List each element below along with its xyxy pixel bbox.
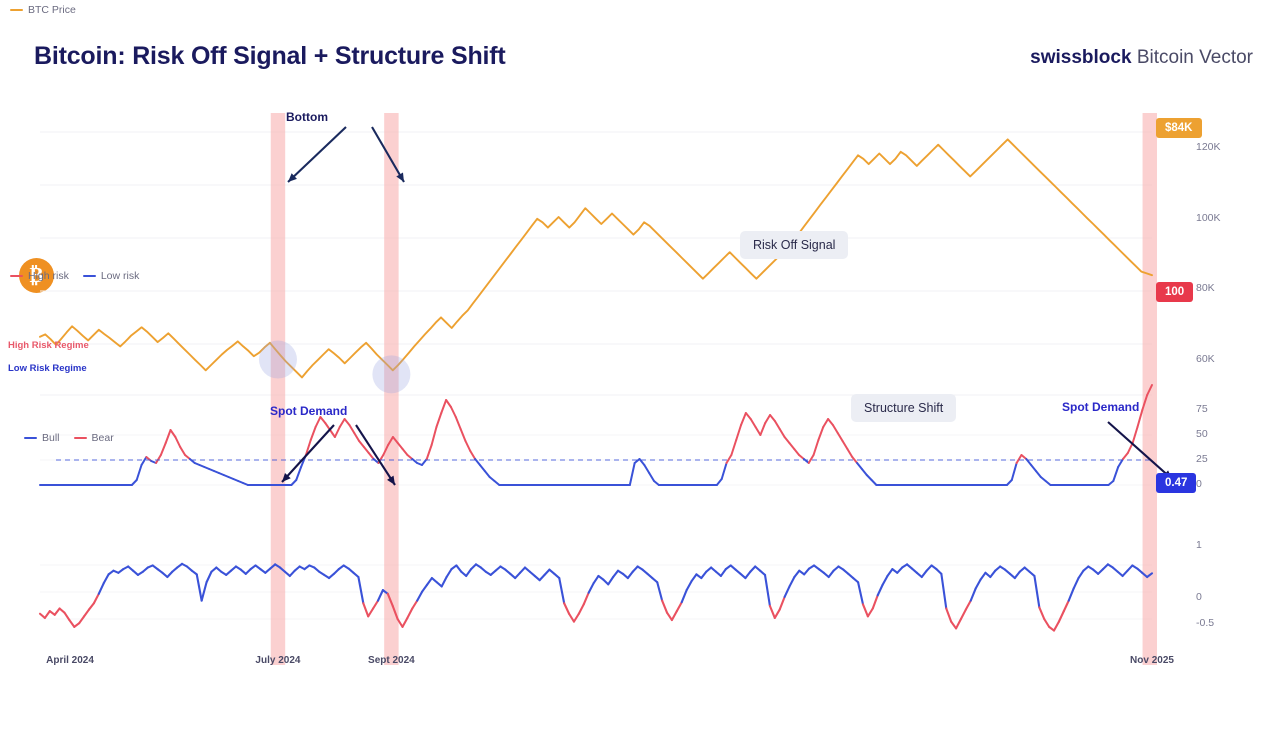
bottom-arrow-left [288,127,346,182]
risk-signal-segment [432,427,437,445]
structure-trend-segment [628,572,633,578]
structure-trend-segment [1064,601,1069,612]
structure-trend-segment [515,573,520,578]
legend-swatch-icon [24,437,37,439]
structure-trend-segment [887,569,892,576]
structure-trend-segment [1123,571,1128,576]
legend-item: Bear [74,432,114,444]
risk-signal-segment [765,415,770,423]
structure-trend-segment [84,610,89,617]
structure-trend-segment [657,582,662,600]
risk-signal-segment [330,430,335,437]
structure-trend-segment [873,595,878,608]
risk-signal-segment [359,441,364,447]
risk-signal-segment [727,455,732,463]
highlight-band [271,113,285,665]
structure-trend-segment [1079,571,1084,578]
y-tick-risk: 0 [1196,478,1202,490]
risk-signal-segment [838,433,843,441]
risk-signal-segment [427,445,432,459]
structure-trend-segment [447,569,452,577]
y-tick-structure: 1 [1196,539,1202,551]
structure-trend-segment [951,622,956,629]
structure-trend-segment [520,568,525,573]
structure-trend-segment [45,611,50,618]
legend-swatch-icon [10,9,23,11]
risk-signal-segment [456,417,461,429]
risk-signal-segment [340,419,345,427]
structure-trend-segment [1128,565,1133,570]
structure-trend-segment [104,574,109,583]
structure-trend-segment [692,574,697,581]
structure-trend-segment [1039,607,1044,619]
structure-trend-segment [545,570,550,575]
structure-trend-segment [427,578,432,585]
structure-trend-segment [1074,578,1079,589]
risk-signal-segment [1012,463,1017,480]
risk-signal-segment [161,443,166,455]
risk-signal-segment [756,427,761,435]
risk-signal-segment [785,437,790,443]
spot-demand-left-annotation: Spot Demand [270,404,347,418]
structure-trend-segment [167,572,172,577]
structure-trend-segment [564,603,569,614]
risk-signal-segment [731,440,736,455]
structure-trend-segment [946,609,951,622]
x-tick-label: Nov 2025 [1130,655,1174,666]
structure-trend-segment [1015,572,1020,578]
risk-signal-segment [1113,467,1118,481]
risk-off-signal-annotation: Risk Off Signal [740,231,848,259]
chart-canvas [34,95,1186,675]
structure-trend-segment [927,565,932,570]
risk-signal-segment [1031,465,1036,471]
structure-trend-segment [613,571,618,577]
legend-label: Low risk [101,270,140,282]
structure-trend-segment [662,601,667,613]
structure-trend-segment [197,574,202,600]
structure-trend-segment [202,582,207,600]
structure-trend-segment [69,620,74,627]
y-tick-risk: 75 [1196,403,1208,415]
risk-signal-segment [354,433,359,441]
legend-label: Bear [92,432,114,444]
structure-trend-segment [701,572,706,578]
structure-trend-segment [540,575,545,580]
structure-trend-segment [456,565,461,571]
risk-signal-segment [746,413,751,419]
btc-price-line [40,139,1152,377]
structure-trend-segment [981,573,986,580]
price-value-badge: $84K [1156,118,1202,138]
risk-signal-segment [296,467,301,480]
structure-trend-segment [1059,611,1064,622]
structure-trend-segment [407,609,412,618]
structure-trend-segment [608,577,613,584]
legend-item: BTC Price [10,4,76,16]
risk-signal-segment [649,473,654,481]
risk-signal-segment [345,419,350,425]
structure-trend-segment [207,572,212,583]
brand-name: swissblock [1030,47,1131,68]
legend-trend: BullBear [24,432,114,444]
risk-signal-segment [364,447,369,453]
risk-signal-segment [814,440,819,455]
structure-trend-segment [79,616,84,623]
risk-signal-segment [1036,471,1041,477]
structure-trend-segment [677,602,682,611]
structure-trend-segment [780,597,785,610]
risk-signal-segment [722,463,727,479]
high-risk-regime-label: High Risk Regime [8,340,89,351]
risk-signal-segment [1007,480,1012,485]
risk-signal-segment [760,423,765,435]
structure-trend-segment [633,567,638,572]
risk-signal-segment [470,451,475,459]
structure-trend-segment [961,610,966,619]
risk-signal-segment [751,419,756,427]
structure-trend-segment [976,580,981,589]
risk-signal-segment [780,429,785,437]
bottom-highlight-circle [372,355,410,393]
structure-trend-segment [863,604,868,616]
risk-signal-segment [741,413,746,425]
risk-signal-segment [311,427,316,440]
risk-signal-segment [369,453,374,459]
structure-trend-segment [956,619,961,628]
x-tick-label: April 2024 [46,655,94,666]
risk-signal-segment [349,425,354,433]
structure-trend-segment [589,583,594,592]
risk-signal-segment [403,449,408,455]
structure-trend-segment [990,571,995,577]
structure-trend-segment [721,569,726,576]
trend-value-badge: 0.47 [1156,473,1196,493]
structure-trend-segment [594,576,599,583]
structure-trend-segment [368,609,373,617]
x-tick-label: Sept 2024 [368,655,415,666]
risk-signal-segment [775,421,780,429]
legend-item: Low risk [83,270,140,282]
risk-signal-segment [828,419,833,425]
risk-signal-segment [833,425,838,433]
risk-signal-segment [291,480,296,485]
bottom-highlight-circle [259,341,297,379]
spot-demand-arrow-left [282,425,334,482]
risk-signal-segment [436,413,441,427]
structure-trend-segment [883,576,888,585]
y-tick-price: 60K [1196,353,1215,365]
y-tick-risk: 50 [1196,428,1208,440]
structure-trend-segment [878,585,883,596]
page-title: Bitcoin: Risk Off Signal + Structure Shi… [34,42,506,71]
structure-trend-segment [422,585,427,592]
structure-trend-segment [922,571,927,577]
structure-trend-segment [775,610,780,618]
structure-trend-segment [966,601,971,610]
structure-trend-segment [417,592,422,601]
structure-trend-segment [897,568,902,573]
structure-shift-annotation: Structure Shift [851,394,956,422]
legend-item: High risk [10,270,69,282]
x-tick-label: July 2024 [255,655,300,666]
risk-signal-segment [166,430,171,443]
structure-trend-segment [765,575,770,606]
legend-swatch-icon [10,275,23,277]
risk-signal-segment [630,463,635,485]
structure-trend-segment [1044,619,1049,627]
bottom-annotation: Bottom [286,110,328,124]
risk-signal-segment [789,443,794,449]
structure-trend-segment [687,581,692,590]
risk-signal-segment [818,427,823,440]
structure-trend-segment [412,601,417,609]
structure-trend-segment [574,614,579,622]
y-tick-price: 120K [1196,141,1221,153]
y-tick-price: 100K [1196,212,1221,224]
risk-signal-segment [480,465,485,471]
structure-trend-segment [584,593,589,605]
risk-signal-segment [809,455,814,463]
low-risk-regime-label: Low Risk Regime [8,363,87,374]
structure-trend-segment [804,569,809,575]
structure-trend-segment [829,571,834,577]
y-tick-structure: 0 [1196,591,1202,603]
legend-item: Bull [24,432,60,444]
structure-trend-segment [858,582,863,604]
risk-signal-segment [180,447,185,455]
risk-signal-segment [862,469,867,475]
structure-trend-segment [569,614,574,622]
structure-trend-segment [868,609,873,617]
risk-signal-segment [171,430,176,437]
risk-signal-segment [175,437,180,447]
risk-signal-segment [137,465,142,480]
structure-trend-segment [770,606,775,618]
structure-trend-segment [559,578,564,603]
structure-trend-segment [466,569,471,576]
brand-product: Bitcoin Vector [1132,47,1253,68]
structure-trend-segment [789,577,794,586]
structure-trend-segment [750,567,755,572]
y-tick-risk: 25 [1196,453,1208,465]
structure-trend-segment [89,603,94,609]
structure-trend-segment [373,601,378,609]
risk-signal-segment [1123,453,1128,459]
risk-signal-segment [132,480,137,485]
risk-signal-segment [872,480,877,485]
structure-trend-segment [358,577,363,603]
risk-signal-segment [446,400,451,407]
structure-trend-segment [579,604,584,613]
structure-trend-segment [1054,622,1059,631]
risk-signal-segment [156,455,161,463]
legend-risk: High riskLow risk [10,270,139,282]
risk-signal-segment [843,441,848,449]
risk-signal-segment [644,465,649,473]
risk-signal-segment [485,471,490,477]
chart-page: Bitcoin: Risk Off Signal + Structure Shi… [0,0,1280,754]
structure-trend-segment [941,574,946,609]
legend-swatch-icon [83,275,96,277]
brand-label: swissblock Bitcoin Vector [1030,47,1253,69]
risk-signal-segment [736,425,741,440]
structure-trend-segment [745,572,750,578]
structure-trend-segment [290,571,295,576]
structure-trend-segment [94,594,99,603]
legend-price: BTC Price [10,4,76,16]
legend-label: BTC Price [28,4,76,16]
risk-signal-segment [717,479,722,485]
risk-signal-segment [451,407,456,417]
risk-signal-segment [847,449,852,457]
risk-signal-segment [465,441,470,451]
risk-signal-segment [316,417,321,427]
structure-trend-segment [971,589,976,601]
structure-trend-segment [363,603,368,616]
risk-signal-segment [1017,455,1022,463]
risk-signal-segment [794,449,799,455]
legend-label: Bull [42,432,60,444]
risk-signal-segment [142,457,147,465]
risk-signal-segment [857,463,862,469]
spot-demand-right-annotation: Spot Demand [1062,400,1139,414]
y-tick-structure: -0.5 [1196,617,1214,629]
structure-trend-segment [442,577,447,586]
y-tick-price: 80K [1196,282,1215,294]
risk-signal-segment [823,419,828,427]
structure-trend-segment [55,609,60,615]
legend-label: High risk [28,270,69,282]
risk-signal-segment [867,475,872,480]
risk-signal-segment [770,415,775,421]
risk-value-badge: 100 [1156,282,1193,302]
chart-plot-area [34,95,1186,675]
risk-signal-segment [441,400,446,413]
structure-trend-segment [794,571,799,577]
legend-swatch-icon [74,437,87,439]
structure-trend-segment [1069,589,1074,601]
